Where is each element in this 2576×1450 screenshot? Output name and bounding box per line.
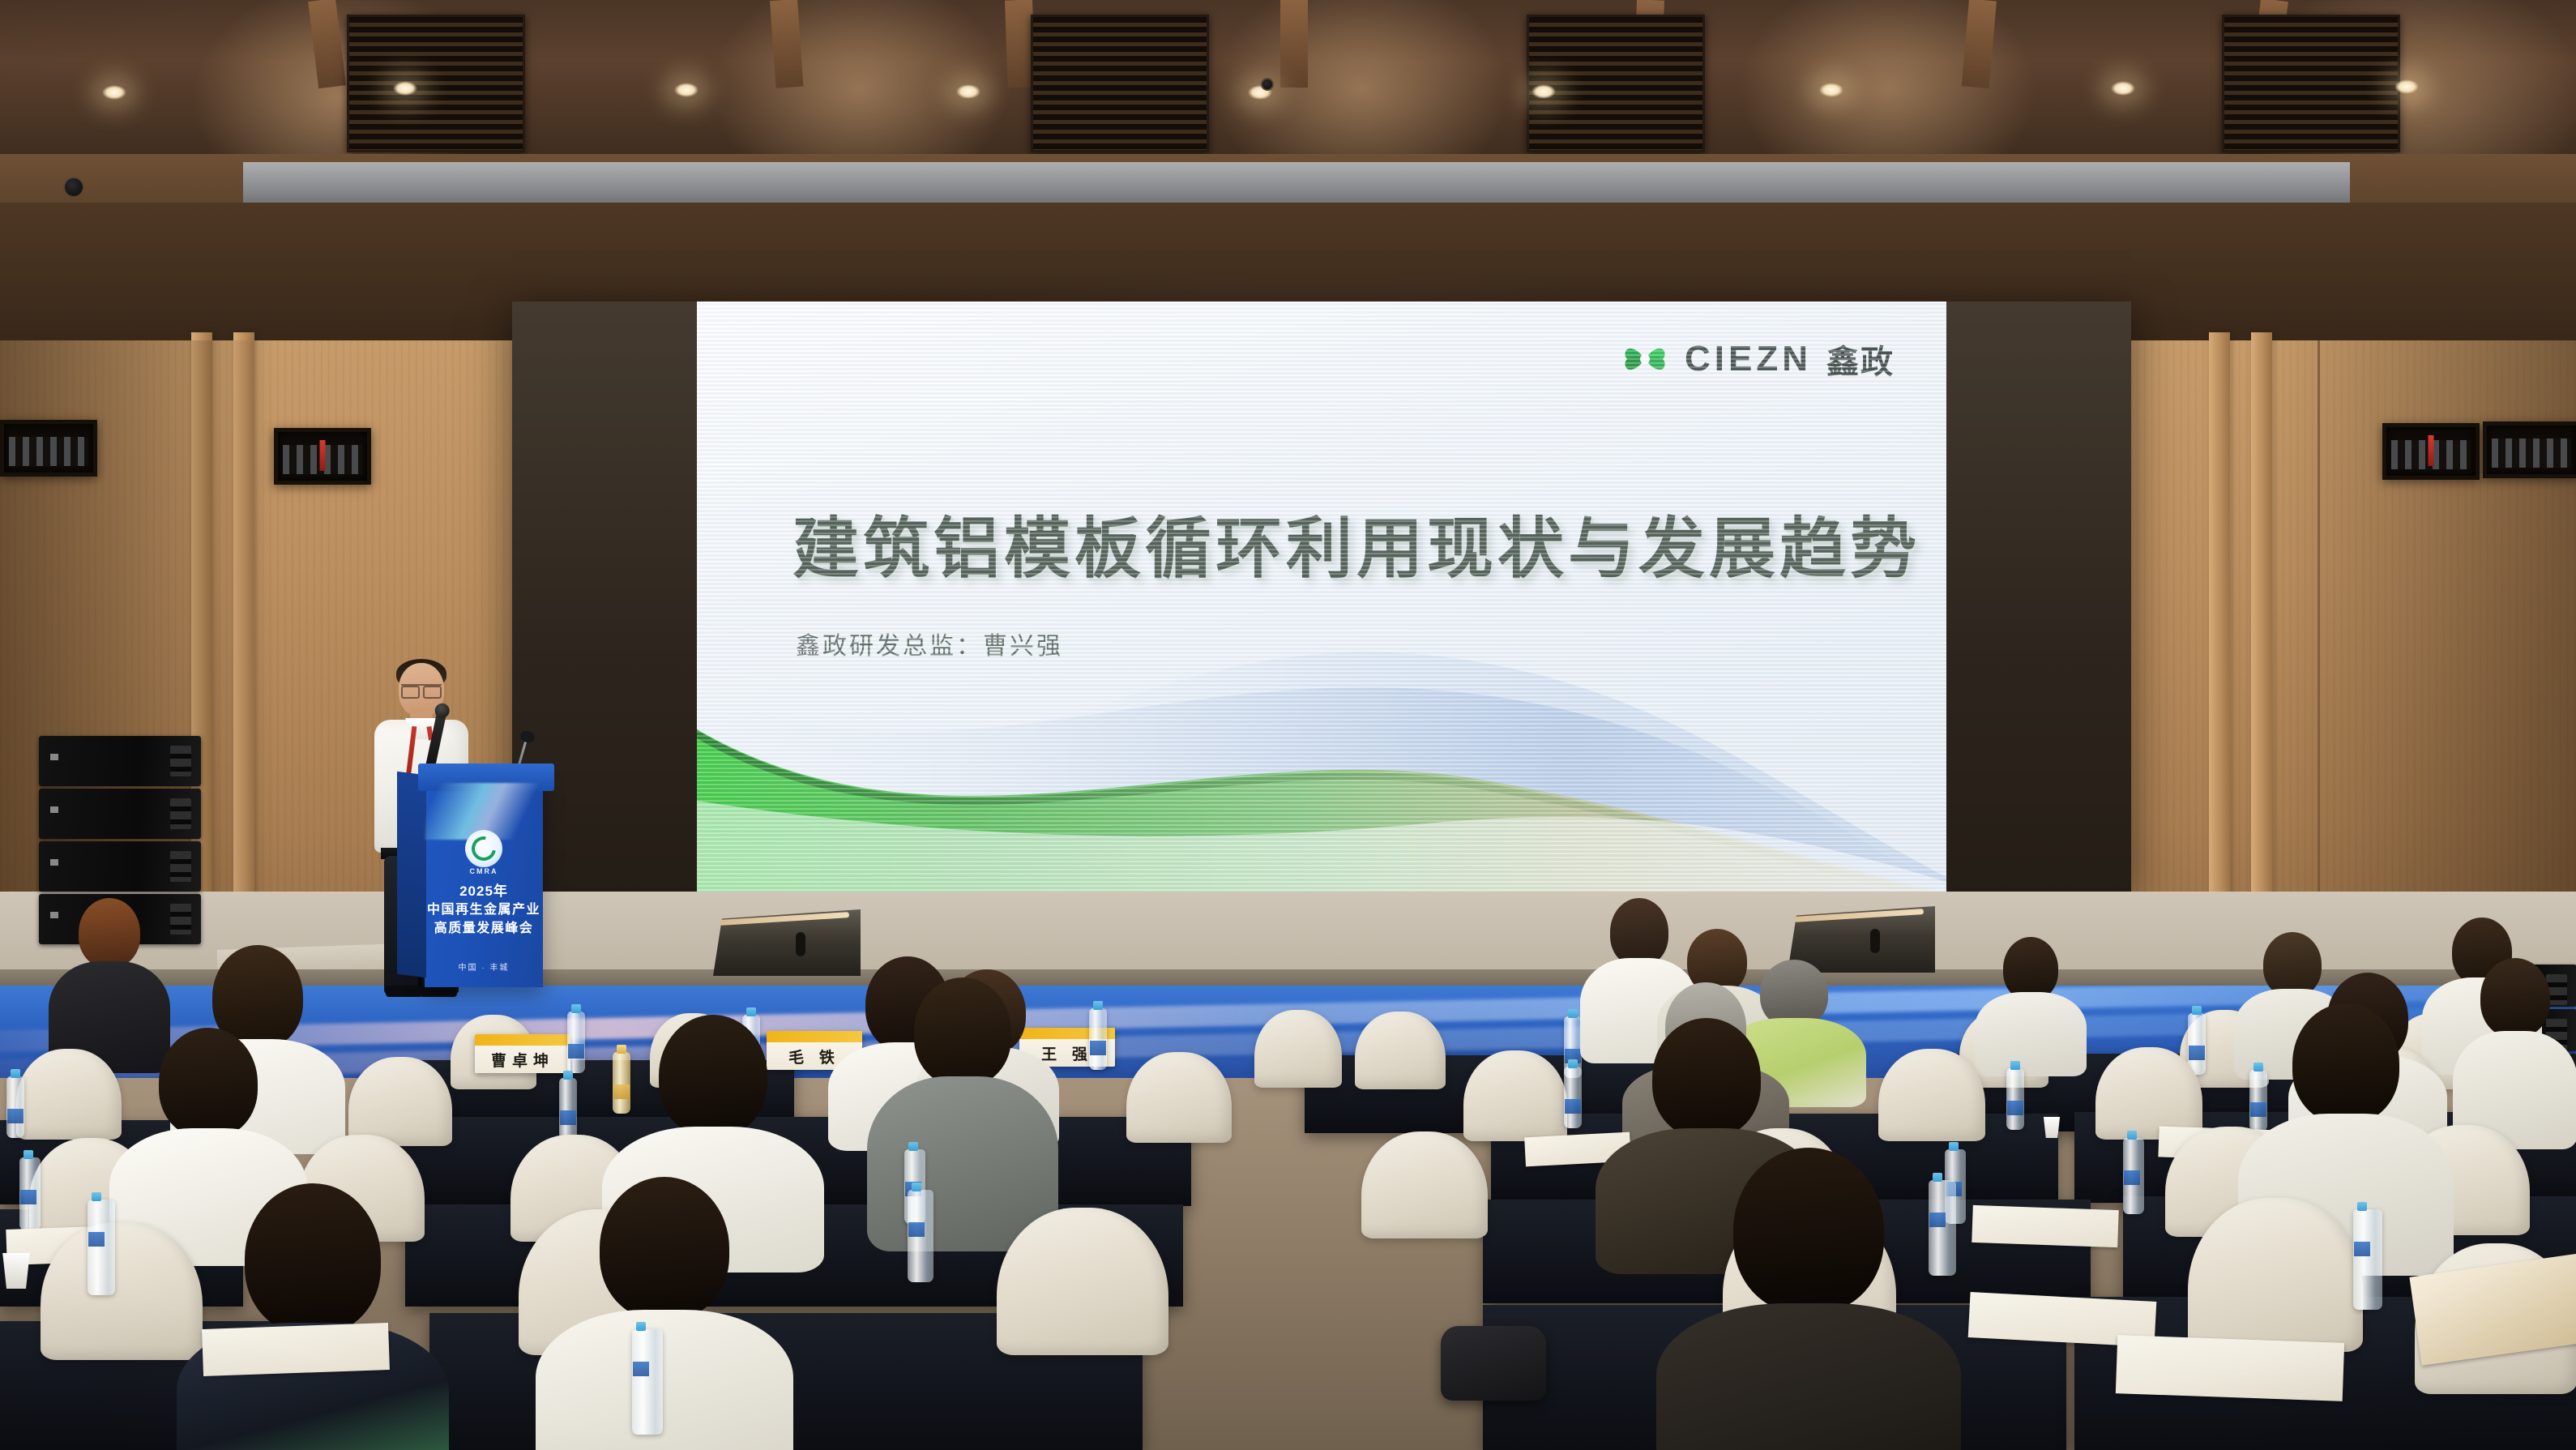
speaker-badge bbox=[50, 754, 58, 760]
person-torso bbox=[1975, 992, 2087, 1076]
ceiling-smoke-detector bbox=[1261, 78, 1274, 91]
audience-chair bbox=[1254, 1010, 1342, 1088]
ciezn-logo-icon bbox=[1620, 334, 1670, 384]
audience-member bbox=[1974, 937, 2087, 1067]
ceiling-downlight bbox=[2394, 79, 2419, 94]
person-head bbox=[1733, 1148, 1884, 1313]
podium: CMRA 2025年 中国再生金属产业 高质量发展峰会 中国 · 丰城 bbox=[425, 776, 543, 987]
monitor-handle-slot bbox=[1870, 929, 1880, 953]
speaker-module bbox=[39, 736, 201, 786]
audience-chair bbox=[16, 1049, 122, 1140]
ceiling-downlight bbox=[956, 84, 980, 99]
person-head bbox=[914, 977, 1011, 1086]
name-card-name: 曹卓坤 bbox=[475, 1046, 570, 1073]
audience-member-foreground bbox=[175, 1183, 451, 1450]
speaker-module bbox=[39, 841, 201, 892]
ceiling-beam bbox=[1280, 0, 1308, 88]
program-booklet bbox=[2116, 1335, 2344, 1401]
wall-pilaster bbox=[2209, 332, 2230, 981]
podium-event-title: 2025年 中国再生金属产业 高质量发展峰会 bbox=[425, 882, 543, 939]
water-bottle bbox=[2353, 1209, 2382, 1310]
table-notepad bbox=[1972, 1205, 2118, 1247]
audience-member bbox=[865, 977, 1060, 1245]
conference-hall-photo: CIEZN 鑫政 建筑铝模板循环利用现状与发展趋势 鑫政研发总监：曹兴强 2 bbox=[0, 0, 2576, 1450]
presenter-shoe bbox=[386, 986, 423, 997]
ceiling-downlight bbox=[102, 85, 126, 100]
monitor-handle-slot bbox=[796, 932, 805, 956]
water-bottle bbox=[1089, 1008, 1107, 1070]
person-head bbox=[2292, 1003, 2399, 1123]
podium-location: 中国 · 丰城 bbox=[425, 960, 543, 973]
speaker-module bbox=[39, 789, 201, 839]
water-bottle bbox=[2006, 1068, 2024, 1130]
ceiling-downlight bbox=[1819, 83, 1843, 97]
floor-backpack bbox=[1441, 1326, 1546, 1401]
water-bottle bbox=[559, 1078, 577, 1140]
water-bottle bbox=[88, 1200, 115, 1295]
ceiling-vent-grille bbox=[1527, 15, 1705, 152]
speaker-badge bbox=[50, 859, 58, 866]
wall-niche-decor bbox=[274, 428, 371, 485]
name-card-header-bar bbox=[475, 1034, 570, 1046]
slide-wave-graphic bbox=[697, 634, 1946, 893]
table-name-card: 曹卓坤 bbox=[475, 1034, 570, 1073]
water-bottle bbox=[1929, 1180, 1956, 1276]
audience-member bbox=[2452, 958, 2576, 1144]
audience-chair bbox=[1355, 1012, 1446, 1089]
logo-wordmark: CIEZN bbox=[1685, 339, 1812, 379]
person-head bbox=[79, 898, 140, 968]
presenter-glasses bbox=[401, 684, 442, 695]
person-head bbox=[600, 1177, 729, 1320]
ceiling-vent-grille bbox=[2222, 15, 2400, 152]
ceiling-vent-grille bbox=[1031, 15, 1209, 152]
person-head bbox=[2480, 958, 2550, 1037]
ceiling-downlight bbox=[393, 81, 417, 96]
person-head bbox=[159, 1028, 258, 1138]
slide-brand-logo: CIEZN 鑫政 bbox=[1620, 334, 1895, 384]
presentation-slide: CIEZN 鑫政 建筑铝模板循环利用现状与发展趋势 鑫政研发总监：曹兴强 bbox=[697, 302, 1946, 893]
water-bottle bbox=[567, 1012, 585, 1073]
podium-line-3: 高质量发展峰会 bbox=[425, 920, 543, 939]
water-bottle bbox=[2188, 1013, 2206, 1075]
audience-member-foreground bbox=[1655, 1148, 1963, 1450]
audience-chair bbox=[348, 1057, 452, 1146]
ceiling-downlight bbox=[1532, 84, 1556, 99]
person-head bbox=[1652, 1018, 1761, 1138]
audience-chair bbox=[1463, 1050, 1567, 1141]
audience-chair bbox=[2095, 1047, 2202, 1140]
ceiling-dome-camera bbox=[63, 177, 84, 198]
led-video-wall: CIEZN 鑫政 建筑铝模板循环利用现状与发展趋势 鑫政研发总监：曹兴强 bbox=[512, 302, 2131, 893]
slide-subtitle: 鑫政研发总监：曹兴强 bbox=[796, 626, 1063, 661]
ceiling-downlight bbox=[674, 83, 698, 97]
podium-line-2: 中国再生金属产业 bbox=[425, 901, 543, 920]
niche-red-tag bbox=[320, 440, 326, 471]
cmra-logo-icon bbox=[465, 830, 502, 867]
led-panel-dark-right bbox=[1946, 302, 2131, 893]
cmra-label: CMRA bbox=[470, 867, 498, 875]
niche-red-tag bbox=[2429, 435, 2434, 466]
water-bottle bbox=[1564, 1067, 1582, 1128]
table-notepad bbox=[202, 1323, 390, 1376]
slide-title: 建筑铝模板循环利用现状与发展趋势 bbox=[792, 494, 1920, 591]
person-head bbox=[659, 1015, 767, 1136]
water-bottle bbox=[19, 1157, 41, 1230]
water-bottle bbox=[632, 1329, 663, 1435]
audience-member-foreground bbox=[535, 1177, 794, 1450]
cmra-ring bbox=[467, 832, 501, 866]
water-bottle bbox=[2123, 1138, 2144, 1214]
person-head bbox=[245, 1183, 381, 1334]
person-torso bbox=[536, 1310, 793, 1450]
podium-side-panel bbox=[397, 772, 426, 977]
logo-wordmark-cn: 鑫政 bbox=[1826, 336, 1895, 383]
wall-niche-decor bbox=[0, 420, 97, 477]
ceiling-downlight bbox=[2111, 81, 2135, 96]
person-torso bbox=[1656, 1303, 1961, 1450]
audience-chair bbox=[1878, 1049, 1985, 1141]
presenter-shoe bbox=[420, 986, 457, 997]
water-bottle bbox=[908, 1190, 933, 1282]
audience-chair bbox=[1126, 1052, 1232, 1143]
water-bottle bbox=[6, 1076, 24, 1138]
ceiling-vent-grille bbox=[347, 15, 525, 152]
person-head bbox=[2003, 937, 2058, 1000]
podium-year: 2025年 bbox=[425, 882, 543, 901]
wall-niche-decor bbox=[2483, 421, 2576, 478]
wall-niche-decor bbox=[2382, 423, 2480, 480]
audience-chair bbox=[1361, 1131, 1488, 1238]
speaker-badge bbox=[50, 806, 58, 813]
